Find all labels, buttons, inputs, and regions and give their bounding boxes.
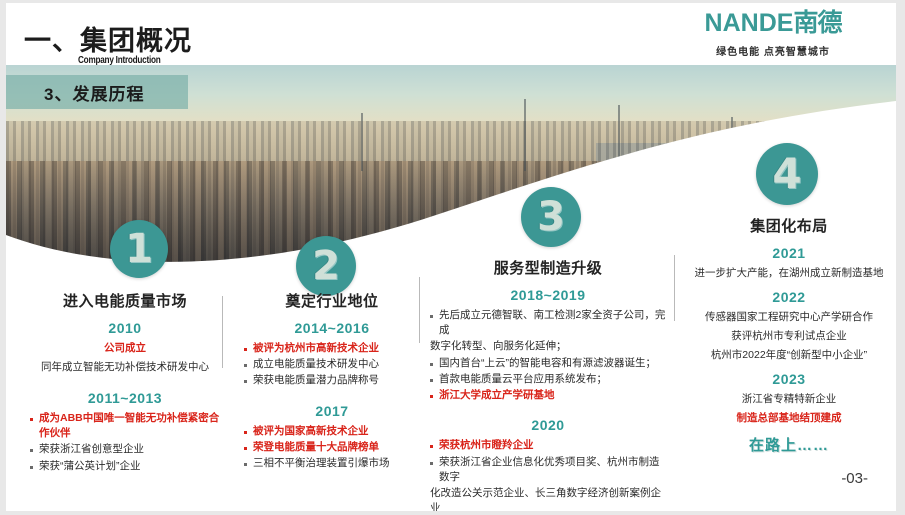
list-item: 荣获浙江省创意型企业 — [30, 442, 220, 457]
list-item: 荣获杭州市瞪羚企业 — [430, 438, 666, 453]
banner-spire — [524, 99, 526, 171]
slide-canvas: 一、集团概况 Company Introduction NANDE南德 绿色电能… — [6, 3, 896, 511]
timeline-block: 2018~2019 先后成立元德智联、南工检测2家全资子公司，完成 数字化转型、… — [430, 287, 666, 403]
list-item: 成为ABB中国唯一智能无功补偿紧密合作伙伴 — [30, 411, 220, 441]
timeline-year: 2014~2016 — [244, 320, 420, 336]
logo-text-en: NANDE — [705, 9, 794, 37]
timeline-year: 2023 — [682, 371, 896, 387]
timeline-marker-1-number: 1 — [125, 229, 153, 269]
section-tag-label: 3、发展历程 — [44, 80, 144, 105]
timeline-marker-2-number: 2 — [312, 246, 340, 286]
timeline-marker-3[interactable]: 3 — [521, 187, 581, 247]
logo-tagline: 绿色电能 点亮智慧城市 — [678, 43, 868, 58]
timeline-item-list: 成为ABB中国唯一智能无功补偿紧密合作伙伴 荣获浙江省创意型企业 荣获“蒲公英计… — [30, 411, 220, 474]
list-item: 被评为杭州市高新技术企业 — [244, 341, 420, 356]
banner-spire — [731, 117, 733, 171]
timeline-marker-2[interactable]: 2 — [296, 236, 356, 296]
list-item: 浙江大学成立产学研基地 — [430, 388, 666, 403]
timeline-block: 2017 被评为国家高新技术企业 荣登电能质量十大品牌榜单 三相不平衡治理装置引… — [244, 403, 420, 472]
timeline-footer-onroad: 在路上…… — [682, 434, 896, 455]
list-item: 首款电能质量云平台应用系统发布； — [430, 372, 666, 387]
brand-logo: NANDE南德 绿色电能 点亮智慧城市 — [678, 11, 868, 58]
banner-spire — [361, 113, 363, 171]
timeline-year: 2020 — [430, 417, 666, 433]
column-divider — [222, 296, 223, 368]
list-item: 三相不平衡治理装置引爆市场 — [244, 456, 420, 471]
timeline-center-line: 传感器国家工程研究中心产学研合作 — [682, 309, 896, 324]
logo-text-cn: 南德 — [793, 9, 841, 37]
page-title: 一、集团概况 — [24, 19, 192, 58]
page-number: -03- — [841, 470, 868, 487]
timeline-block: 2010 公司成立 同年成立智能无功补偿技术研发中心 — [30, 320, 220, 374]
timeline-year: 2018~2019 — [430, 287, 666, 303]
timeline-column-1-title: 进入电能质量市场 — [30, 290, 220, 311]
list-item: 荣登电能质量十大品牌榜单 — [244, 440, 420, 455]
timeline-year: 2010 — [30, 320, 220, 336]
section-tag: 3、发展历程 — [6, 75, 188, 109]
timeline-item-list: 被评为国家高新技术企业 荣登电能质量十大品牌榜单 三相不平衡治理装置引爆市场 — [244, 424, 420, 472]
list-item: 先后成立元德智联、南工检测2家全资子公司，完成 — [430, 308, 666, 338]
timeline-center-line: 制造总部基地结顶建成 — [682, 410, 896, 425]
timeline-center-line: 进一步扩大产能，在湖州成立新制造基地 — [682, 265, 896, 280]
timeline-marker-4-number: 4 — [772, 153, 801, 195]
timeline-block: 2011~2013 成为ABB中国唯一智能无功补偿紧密合作伙伴 荣获浙江省创意型… — [30, 390, 220, 474]
list-item: 化改造公关示范企业、长三角数字经济创新案例企业 — [430, 486, 666, 511]
timeline-column-1: 进入电能质量市场 2010 公司成立 同年成立智能无功补偿技术研发中心 2011… — [30, 290, 220, 475]
list-item: 数字化转型、向服务化延伸； — [430, 339, 666, 354]
timeline-year: 2021 — [682, 245, 896, 261]
list-item: 荣获浙江省企业信息化优秀项目奖、杭州市制造数字 — [430, 455, 666, 485]
list-item: 荣获“蒲公英计划”企业 — [30, 459, 220, 474]
timeline-block: 2020 荣获杭州市瞪羚企业 荣获浙江省企业信息化优秀项目奖、杭州市制造数字 化… — [430, 417, 666, 511]
timeline-center-line: 获评杭州市专利试点企业 — [682, 328, 896, 343]
list-item: 荣获电能质量潜力品牌称号 — [244, 373, 420, 388]
timeline-marker-3-number: 3 — [537, 197, 565, 237]
timeline-column-3-title: 服务型制造升级 — [430, 257, 666, 278]
list-item: 被评为国家高新技术企业 — [244, 424, 420, 439]
timeline-item-list: 荣获杭州市瞪羚企业 荣获浙江省企业信息化优秀项目奖、杭州市制造数字 化改造公关示… — [430, 438, 666, 511]
timeline-column-3: 服务型制造升级 2018~2019 先后成立元德智联、南工检测2家全资子公司，完… — [430, 257, 666, 511]
timeline-column-2-title: 奠定行业地位 — [244, 290, 420, 311]
column-divider — [674, 255, 675, 321]
timeline-marker-1[interactable]: 1 — [110, 220, 168, 278]
timeline-block: 2023 浙江省专精特新企业 制造总部基地结顶建成 — [682, 371, 896, 425]
timeline-item-list: 被评为杭州市高新技术企业 成立电能质量技术研发中心 荣获电能质量潜力品牌称号 — [244, 341, 420, 389]
timeline-column-2: 奠定行业地位 2014~2016 被评为杭州市高新技术企业 成立电能质量技术研发… — [244, 290, 420, 472]
timeline-year: 2017 — [244, 403, 420, 419]
timeline-marker-4[interactable]: 4 — [756, 143, 818, 205]
timeline-column-4: 集团化布局 2021 进一步扩大产能，在湖州成立新制造基地 2022 传感器国家… — [682, 215, 896, 455]
banner-spire — [618, 105, 620, 171]
timeline-center-line: 同年成立智能无功补偿技术研发中心 — [30, 359, 220, 374]
list-item: 国内首台“上云”的智能电容和有源滤波器诞生； — [430, 356, 666, 371]
timeline-year: 2011~2013 — [30, 390, 220, 406]
timeline-block: 2022 传感器国家工程研究中心产学研合作 获评杭州市专利试点企业 杭州市202… — [682, 289, 896, 362]
slide-root: 一、集团概况 Company Introduction NANDE南德 绿色电能… — [0, 0, 905, 515]
timeline-column-4-title: 集团化布局 — [682, 215, 896, 236]
logo-text: NANDE南德 — [678, 11, 868, 36]
timeline-year: 2022 — [682, 289, 896, 305]
list-item: 成立电能质量技术研发中心 — [244, 357, 420, 372]
timeline-item-list: 先后成立元德智联、南工检测2家全资子公司，完成 数字化转型、向服务化延伸； 国内… — [430, 308, 666, 403]
timeline-center-line: 浙江省专精特新企业 — [682, 391, 896, 406]
timeline-block: 2014~2016 被评为杭州市高新技术企业 成立电能质量技术研发中心 荣获电能… — [244, 320, 420, 389]
timeline-block: 2021 进一步扩大产能，在湖州成立新制造基地 — [682, 245, 896, 280]
timeline-center-line: 公司成立 — [30, 340, 220, 355]
timeline-center-line: 杭州市2022年度“创新型中小企业” — [682, 347, 896, 362]
